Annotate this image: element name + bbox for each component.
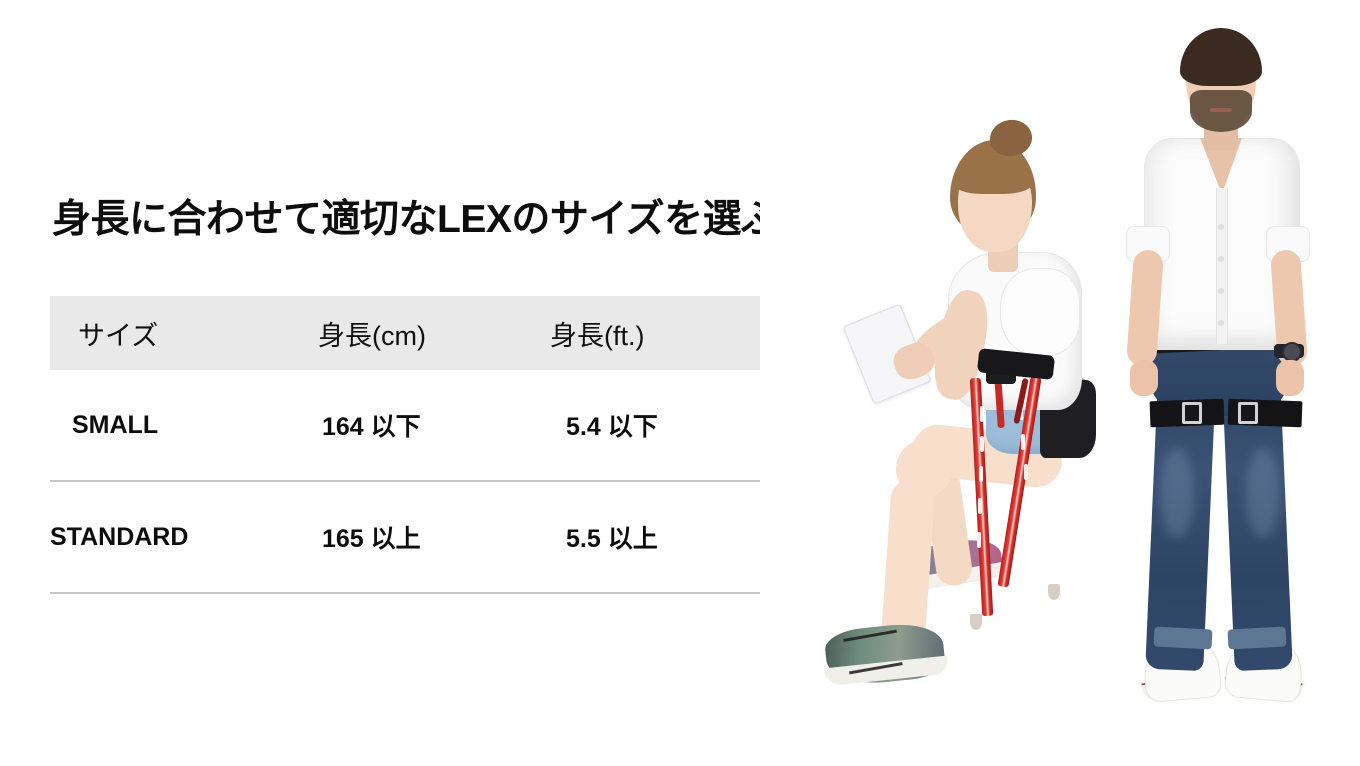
- column-header-height-cm: 身長(cm): [290, 314, 544, 353]
- slide-canvas: 身長に合わせて適切なLEXのサイズを選ぶ サイズ 身長(cm) 身長(ft.) …: [0, 0, 1360, 766]
- man-shirt-button: [1218, 224, 1224, 230]
- lex-leg-perforation: [980, 436, 984, 452]
- lex-chair-device: [956, 352, 1076, 652]
- standing-man-figure: [1096, 28, 1336, 706]
- lex-foot-tip: [1048, 584, 1060, 600]
- lex-leg-perforation: [980, 406, 984, 422]
- man-shirt-button: [1218, 288, 1224, 294]
- man-mouth: [1210, 108, 1232, 112]
- cell-height-cm: 165 以上: [286, 519, 542, 555]
- product-photo: [760, 0, 1360, 766]
- cell-size: STANDARD: [50, 523, 286, 552]
- lex-leg-perforation: [979, 466, 983, 482]
- man-shirt-button: [1218, 320, 1224, 326]
- man-right-hand: [1276, 360, 1304, 396]
- man-jeans-fade: [1160, 448, 1194, 538]
- lex-leg-perforation: [978, 498, 982, 514]
- man-right-jean-cuff: [1228, 626, 1287, 649]
- cell-height-cm: 164 以下: [286, 407, 542, 443]
- table-header-row: サイズ 身長(cm) 身長(ft.): [50, 296, 766, 370]
- lex-leg-perforation: [1021, 434, 1025, 450]
- man-jeans-fade: [1246, 448, 1280, 538]
- man-hair: [1180, 28, 1262, 86]
- cell-height-ft: 5.4 以下: [542, 407, 766, 443]
- column-header-size: サイズ: [56, 314, 290, 353]
- lex-strap-buckle-right: [1238, 402, 1258, 424]
- size-chart-table: サイズ 身長(cm) 身長(ft.) SMALL 164 以下 5.4 以下 S…: [50, 296, 766, 594]
- column-header-height-ft: 身長(ft.): [544, 314, 766, 353]
- table-row: STANDARD 165 以上 5.5 以上: [50, 482, 766, 594]
- man-shirt-button: [1218, 256, 1224, 262]
- wristwatch-icon: [1282, 342, 1302, 362]
- cell-size: SMALL: [50, 411, 286, 440]
- page-title: 身長に合わせて適切なLEXのサイズを選ぶ: [52, 198, 780, 243]
- man-left-hand: [1130, 360, 1158, 396]
- lex-foot-tip: [970, 614, 982, 630]
- lex-leg-perforation: [977, 532, 981, 548]
- cell-height-ft: 5.5 以上: [542, 519, 766, 555]
- lex-strap-buckle-left: [1182, 402, 1202, 424]
- man-left-jean-cuff: [1154, 626, 1213, 649]
- table-row: SMALL 164 以下 5.4 以下: [50, 370, 766, 482]
- lex-leg-perforation: [1024, 464, 1028, 480]
- lex-leg-perforation: [1026, 496, 1030, 512]
- woman-tshirt-sleeve: [1000, 268, 1080, 356]
